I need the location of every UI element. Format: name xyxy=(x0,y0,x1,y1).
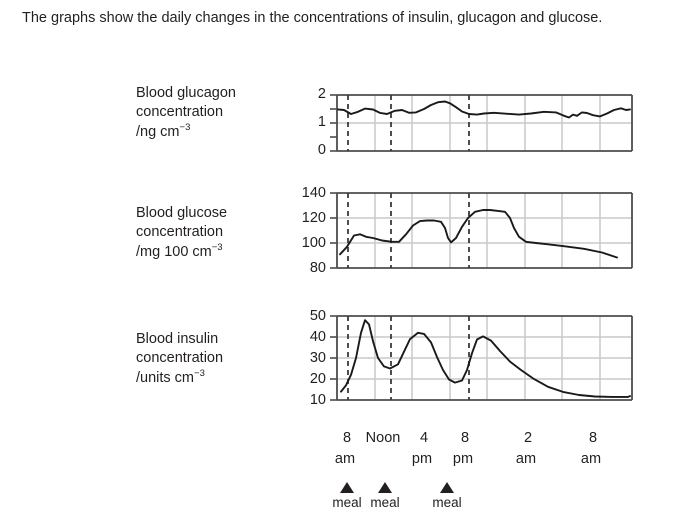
xtick-5-top: 8 xyxy=(573,430,613,446)
insulin-label-superscript: −3 xyxy=(194,368,205,379)
glucagon-ytick-0: 0 xyxy=(300,142,326,158)
insulin-plot xyxy=(330,309,638,411)
glucose-label-line-2: concentration xyxy=(136,223,227,242)
xtick-4-bottom: am xyxy=(506,451,546,467)
glucagon-label-line-3: /ng cm−3 xyxy=(136,123,236,142)
insulin-label-line-3: /units cm−3 xyxy=(136,369,223,388)
xtick-1-top: Noon xyxy=(355,430,411,446)
meal-marker-3: meal xyxy=(420,482,474,510)
glucagon-ytick-1: 1 xyxy=(300,114,326,130)
meal-marker-2-label: meal xyxy=(358,495,412,510)
xtick-2-bottom: pm xyxy=(402,451,442,467)
insulin-ytick-50: 50 xyxy=(292,308,326,324)
xtick-0-bottom: am xyxy=(325,451,365,467)
insulin-label-line-1: Blood insulin xyxy=(136,330,223,349)
meal-marker-3-label: meal xyxy=(420,495,474,510)
glucose-ytick-140: 140 xyxy=(282,185,326,201)
meal-marker-2: meal xyxy=(358,482,412,510)
insulin-ytick-10: 10 xyxy=(292,392,326,408)
glucose-ytick-80: 80 xyxy=(282,260,326,276)
insulin-ytick-20: 20 xyxy=(292,371,326,387)
insulin-label-line-2: concentration xyxy=(136,349,223,368)
triangle-up-icon xyxy=(440,482,454,493)
insulin-ytick-40: 40 xyxy=(292,329,326,345)
glucagon-axis-label: Blood glucagon concentration /ng cm−3 xyxy=(136,84,236,142)
glucose-label-superscript: −3 xyxy=(212,242,223,253)
intro-paragraph: The graphs show the daily changes in the… xyxy=(22,8,672,29)
triangle-up-icon xyxy=(378,482,392,493)
glucose-label-line-3: /mg 100 cm−3 xyxy=(136,243,227,262)
glucagon-ytick-2: 2 xyxy=(300,86,326,102)
glucose-ytick-120: 120 xyxy=(282,210,326,226)
insulin-axis-label: Blood insulin concentration /units cm−3 xyxy=(136,330,223,388)
xtick-4-top: 2 xyxy=(508,430,548,446)
glucose-axis-label: Blood glucose concentration /mg 100 cm−3 xyxy=(136,204,227,262)
glucose-plot xyxy=(330,186,638,278)
triangle-up-icon xyxy=(340,482,354,493)
xtick-5-bottom: am xyxy=(571,451,611,467)
xtick-3-bottom: pm xyxy=(443,451,483,467)
xtick-2-top: 4 xyxy=(404,430,444,446)
insulin-ytick-30: 30 xyxy=(292,350,326,366)
glucagon-label-superscript: −3 xyxy=(180,122,191,133)
glucose-ytick-100: 100 xyxy=(282,235,326,251)
glucagon-label-line-1: Blood glucagon xyxy=(136,84,236,103)
glucagon-plot xyxy=(330,88,638,160)
glucose-label-line-1: Blood glucose xyxy=(136,204,227,223)
xtick-3-top: 8 xyxy=(445,430,485,446)
glucagon-label-line-2: concentration xyxy=(136,103,236,122)
